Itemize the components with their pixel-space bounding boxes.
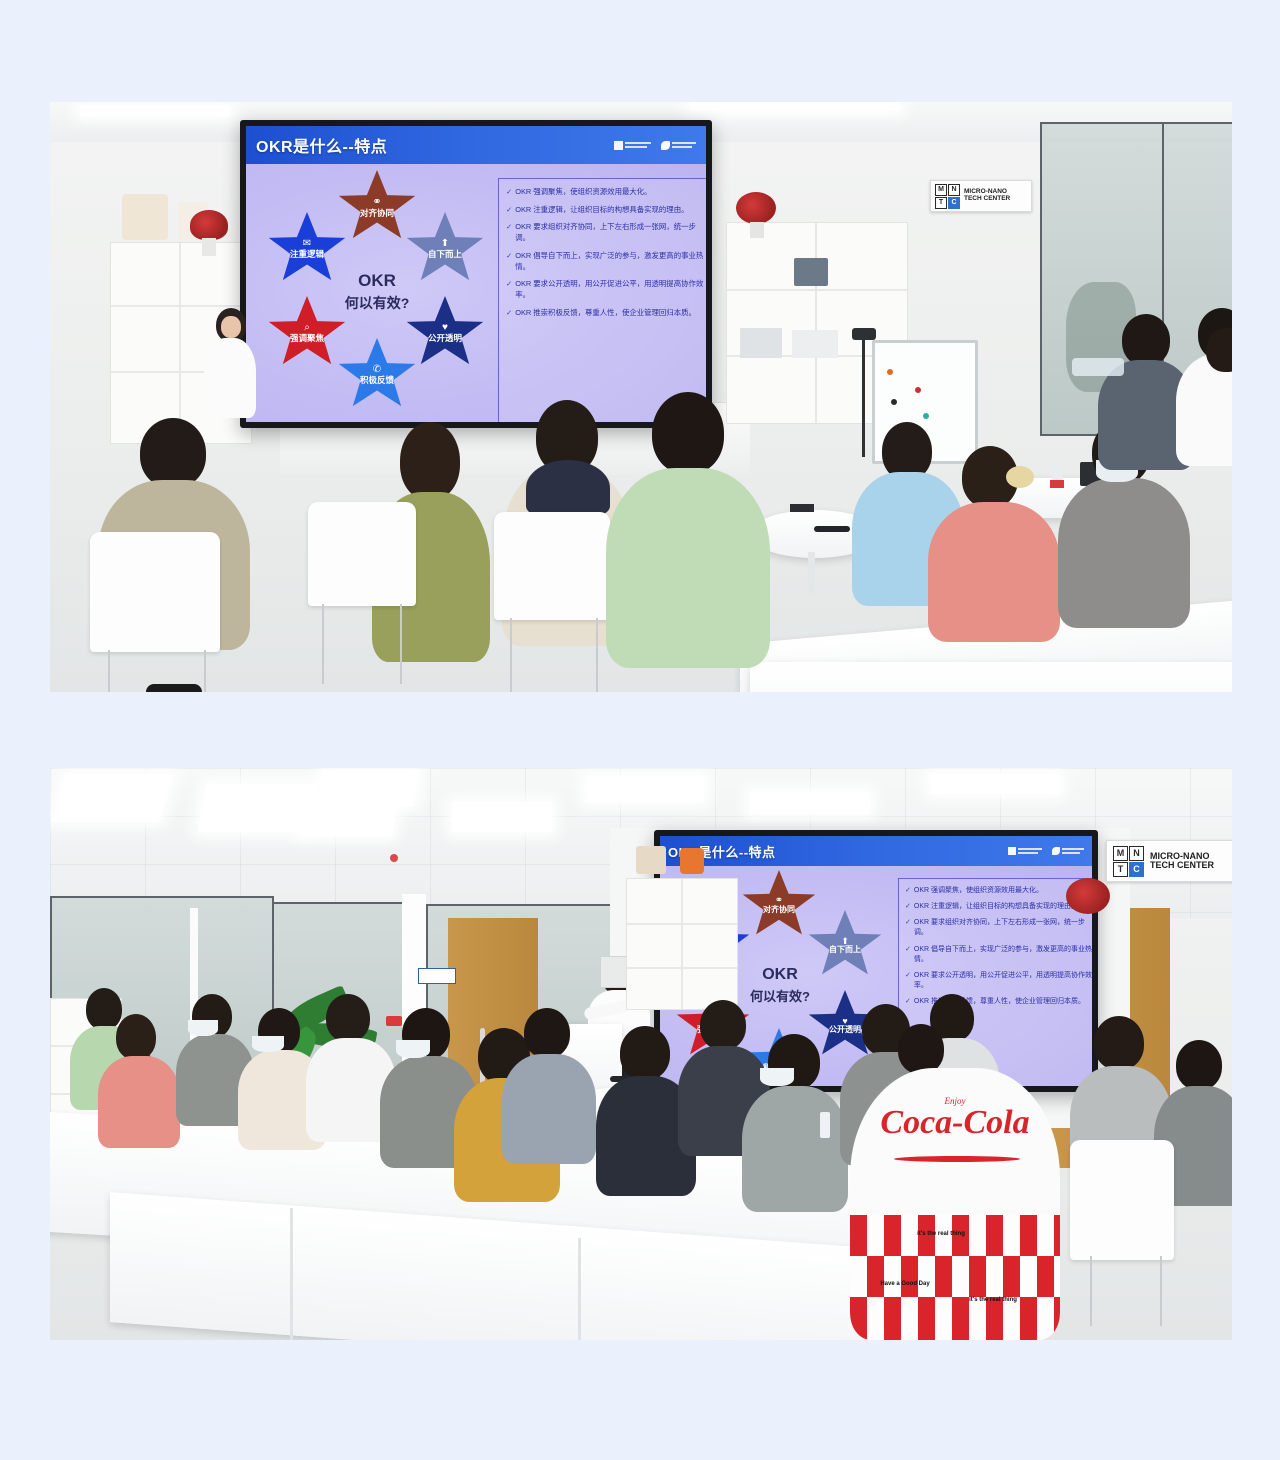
red-plant bbox=[736, 192, 776, 224]
scarf bbox=[526, 460, 610, 516]
chair bbox=[1070, 1140, 1174, 1260]
decor-object bbox=[680, 848, 704, 874]
check-icon: ✓ bbox=[506, 279, 512, 300]
attendee bbox=[928, 446, 1058, 636]
star-label: 对齐协同 bbox=[360, 209, 394, 218]
star-align: ⚭ 对齐协同 bbox=[338, 170, 416, 244]
coca-cola-jacket: Enjoy Coca-Cola it's the real thing Have… bbox=[850, 1068, 1060, 1340]
check-icon: ✓ bbox=[905, 902, 911, 912]
training-room-front-view: OKR是什么--特点 bbox=[50, 102, 1232, 692]
smoke-detector bbox=[390, 854, 398, 862]
check-icon: ✓ bbox=[506, 251, 512, 272]
bullet-item: ✓OKR 注重逻辑，让组织目标的构想具备实现的理由。 bbox=[506, 205, 706, 216]
check-icon: ✓ bbox=[905, 945, 911, 965]
wall-sign-micro-nano: M N T C MICRO-NANO TECH CENTER bbox=[930, 180, 1032, 212]
bullet-item: ✓OKR 强调聚焦，使组织资源效用最大化。 bbox=[506, 187, 706, 198]
bullet-item: ✓OKR 强调聚焦，使组织资源效用最大化。 bbox=[905, 886, 1092, 896]
handshake-icon: ⚭ bbox=[372, 197, 381, 208]
chair bbox=[90, 532, 220, 652]
long-table-front bbox=[750, 662, 1232, 692]
sign-block-c: C bbox=[948, 197, 960, 209]
poster-page: OKR是什么--特点 bbox=[0, 0, 1280, 1460]
center-question-text: 何以有效? bbox=[345, 293, 410, 313]
sign-block-m: M bbox=[935, 184, 947, 196]
sign-block-n: N bbox=[948, 184, 960, 196]
face-mask bbox=[396, 1040, 430, 1058]
wall-plaque bbox=[418, 968, 456, 984]
envelope-icon: ✉ bbox=[303, 239, 311, 249]
check-icon: ✓ bbox=[905, 886, 911, 896]
chair bbox=[308, 502, 416, 606]
star-label: 强调聚焦 bbox=[290, 334, 324, 343]
partner-lab-logo bbox=[661, 141, 696, 150]
sign-line-2: TECH CENTER bbox=[1150, 861, 1214, 870]
face-mask bbox=[188, 1020, 218, 1036]
star-feedback: ✆ 积极反馈 bbox=[338, 338, 416, 412]
picture-frame bbox=[794, 258, 828, 286]
phone-icon: ✆ bbox=[373, 365, 381, 375]
face-mask bbox=[252, 1036, 284, 1052]
red-plant bbox=[1066, 878, 1110, 914]
check-icon: ✓ bbox=[506, 222, 512, 243]
water-bottle bbox=[820, 1112, 830, 1138]
check-icon: ✓ bbox=[506, 205, 512, 216]
partner-lab-logo bbox=[1052, 847, 1084, 855]
ceiling-light bbox=[300, 806, 395, 836]
star-label: 积极反馈 bbox=[360, 376, 394, 385]
check-icon: ✓ bbox=[905, 971, 911, 991]
star-label: 自下而上 bbox=[829, 946, 861, 954]
bullet-item: ✓OKR 要求公开透明，用公开促进公平，用透明提高协作效率。 bbox=[506, 279, 706, 300]
remote-control bbox=[814, 526, 850, 532]
bullet-panel: ✓OKR 强调聚焦，使组织资源效用最大化。 ✓OKR 注重逻辑，让组织目标的构想… bbox=[498, 178, 706, 422]
jacket-tagline: Have a Good Day bbox=[878, 1281, 932, 1287]
shoe bbox=[146, 684, 202, 692]
chair bbox=[494, 512, 610, 620]
ceiling-light bbox=[51, 774, 173, 822]
magnifier-icon: ⌕ bbox=[304, 323, 310, 333]
face-mask bbox=[760, 1068, 794, 1086]
attendee bbox=[606, 392, 766, 672]
sign-line-2: TECH CENTER bbox=[964, 196, 1010, 203]
slide-title: OKR是什么--特点 bbox=[256, 133, 387, 157]
ceiling-light bbox=[586, 776, 704, 802]
micro-nano-tech-center-logo bbox=[1008, 847, 1042, 855]
ceiling-light bbox=[198, 784, 318, 832]
decor-box bbox=[122, 194, 168, 240]
check-icon: ✓ bbox=[506, 308, 512, 319]
attendee bbox=[742, 1034, 846, 1200]
training-room-wide-view: OKR是什么--特点 bbox=[50, 768, 1232, 1340]
star-label: 自下而上 bbox=[428, 250, 462, 259]
hair-clip bbox=[1006, 466, 1034, 488]
shelf-unit bbox=[626, 878, 738, 1010]
red-plant bbox=[190, 210, 228, 240]
check-icon: ✓ bbox=[905, 918, 911, 938]
sign-block-t: T bbox=[935, 197, 947, 209]
bullet-item: ✓OKR 倡导自下而上，实现广泛的参与，激发更高的事业热情。 bbox=[506, 251, 706, 272]
bullet-item: ✓OKR 要求组织对齐协同，上下左右形成一张网，统一步调。 bbox=[905, 918, 1092, 938]
micro-nano-tech-center-logo bbox=[614, 141, 651, 150]
presentation-screen: OKR是什么--特点 bbox=[240, 120, 712, 428]
sign-block-n: N bbox=[1129, 846, 1144, 861]
bullet-item: ✓OKR 倡导自下而上，实现广泛的参与，激发更高的事业热情。 bbox=[905, 945, 1092, 965]
star-diagram: ⚭ 对齐协同 ✉ 注重逻辑 ⬆ 自下而上 bbox=[262, 170, 492, 420]
attendee bbox=[98, 1014, 178, 1134]
ceiling-light bbox=[317, 770, 418, 806]
jacket-tagline: it's the real thing bbox=[914, 1231, 968, 1237]
bullet-item: ✓OKR 注重逻辑，让组织目标的构想具备实现的理由。 bbox=[905, 902, 1092, 912]
sign-block-m: M bbox=[1113, 846, 1128, 861]
jacket-tagline: it's the real thing bbox=[968, 1297, 1018, 1303]
star-label: 注重逻辑 bbox=[290, 250, 324, 259]
ceiling-light bbox=[452, 802, 552, 832]
bullet-item: ✓OKR 推崇积极反馈，尊重人性，使企业管理回归本质。 bbox=[506, 308, 706, 319]
center-okr-text: OKR bbox=[762, 966, 798, 984]
sign-block-t: T bbox=[1113, 862, 1128, 877]
attendee bbox=[1204, 328, 1232, 388]
sign-block-c: C bbox=[1129, 862, 1144, 877]
presenter bbox=[200, 308, 260, 428]
check-icon: ✓ bbox=[506, 187, 512, 198]
star-label: 公开透明 bbox=[428, 334, 462, 343]
ceiling-light bbox=[930, 774, 1060, 794]
bullet-item: ✓OKR 要求组织对齐协同，上下左右形成一张网，统一步调。 bbox=[506, 222, 706, 243]
ceiling-light bbox=[750, 792, 870, 814]
face-mask bbox=[1072, 358, 1124, 376]
star-label: 对齐协同 bbox=[763, 906, 795, 914]
heart-icon: ♥ bbox=[442, 323, 448, 333]
arrow-up-icon: ⬆ bbox=[441, 239, 449, 249]
bullet-item: ✓OKR 要求公开透明，用公开促进公平，用透明提高协作效率。 bbox=[905, 971, 1092, 991]
jacket-brand-text: Coca-Cola bbox=[850, 1104, 1060, 1142]
center-okr-text: OKR bbox=[358, 271, 396, 291]
okr-slide: OKR是什么--特点 bbox=[246, 126, 706, 422]
star-align: ⚭ 对齐协同 bbox=[742, 870, 816, 940]
wall-sign-micro-nano: M N T C MICRO-NANO TECH CENTER bbox=[1106, 840, 1232, 882]
attendee bbox=[502, 1008, 594, 1154]
